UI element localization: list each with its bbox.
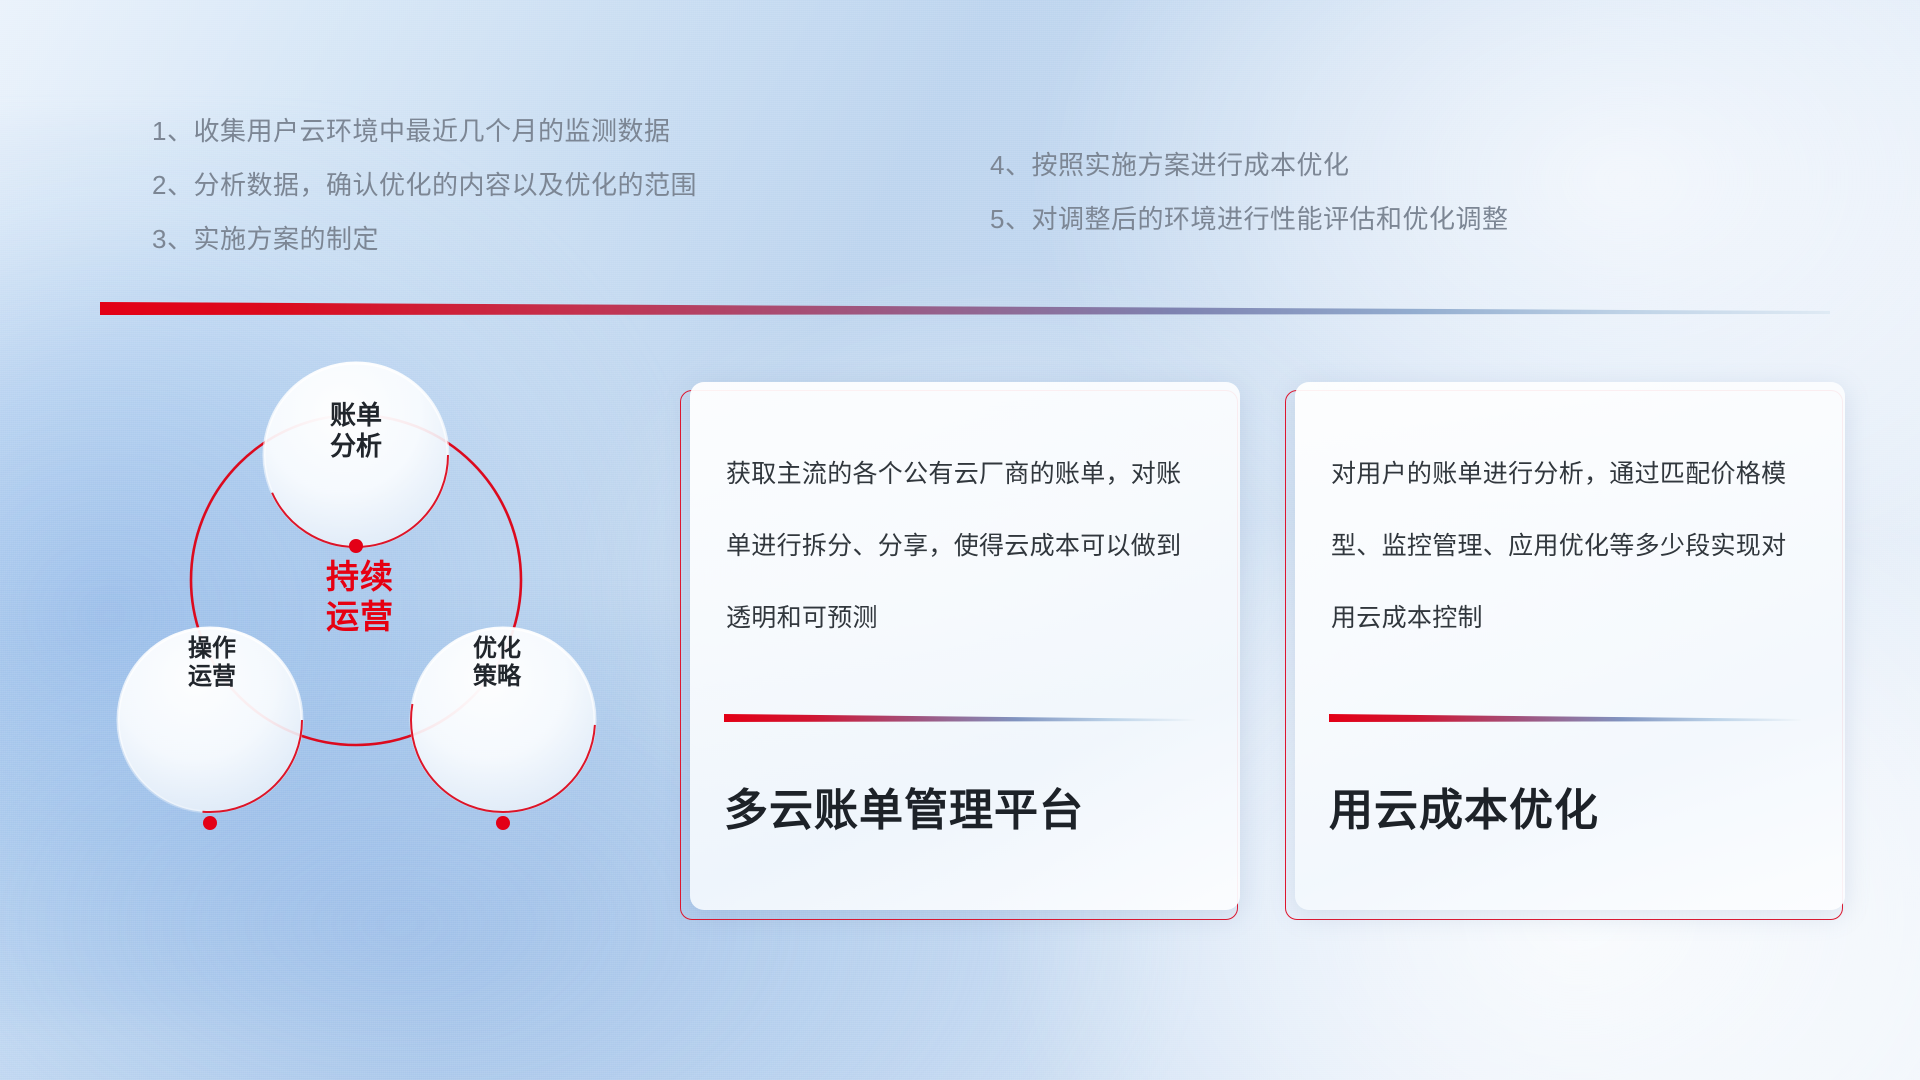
step-item: 5、对调整后的环境进行性能评估和优化调整 xyxy=(990,206,1508,232)
steps-list-left: 1、收集用户云环境中最近几个月的监测数据 2、分析数据，确认优化的内容以及优化的… xyxy=(152,118,697,252)
step-item: 1、收集用户云环境中最近几个月的监测数据 xyxy=(152,118,697,144)
venn-center-label: 持续 运营 xyxy=(285,557,435,638)
continuous-operation-diagram: 账单 分析 操作 运营 优化 策略 持续 运营 xyxy=(95,345,615,920)
card-title: 用云成本优化 xyxy=(1329,774,1809,838)
card-title: 多云账单管理平台 xyxy=(724,774,1204,838)
bubble-label-strategy: 优化 策略 xyxy=(422,635,572,692)
steps-list-right: 4、按照实施方案进行成本优化 5、对调整后的环境进行性能评估和优化调整 xyxy=(990,152,1508,232)
node-dot-top xyxy=(349,539,363,553)
section-divider xyxy=(100,300,1830,318)
card-multi-cloud-billing[interactable]: 获取主流的各个公有云厂商的账单，对账单进行拆分、分享，使得云成本可以做到透明和可… xyxy=(680,382,1240,922)
bubble-label-billing: 账单 分析 xyxy=(271,400,441,461)
node-dot-bottom-right xyxy=(496,816,510,830)
card-accent-rule xyxy=(1329,710,1801,719)
bubble-label-operations: 操作 运营 xyxy=(137,635,287,692)
step-item: 2、分析数据，确认优化的内容以及优化的范围 xyxy=(152,172,697,198)
card-cloud-cost-optimization[interactable]: 对用户的账单进行分析，通过匹配价格模型、监控管理、应用优化等多少段实现对用云成本… xyxy=(1285,382,1845,922)
section-divider-shape xyxy=(100,300,1830,318)
card-accent-rule xyxy=(724,710,1196,719)
card-accent-rule-shape xyxy=(724,714,1196,723)
card-description: 对用户的账单进行分析，通过匹配价格模型、监控管理、应用优化等多少段实现对用云成本… xyxy=(1331,438,1801,654)
card-accent-rule-shape xyxy=(1329,714,1801,723)
step-item: 4、按照实施方案进行成本优化 xyxy=(990,152,1508,178)
node-dot-bottom-left xyxy=(203,816,217,830)
card-description: 获取主流的各个公有云厂商的账单，对账单进行拆分、分享，使得云成本可以做到透明和可… xyxy=(726,438,1196,654)
step-item: 3、实施方案的制定 xyxy=(152,226,697,252)
slide-canvas: 1、收集用户云环境中最近几个月的监测数据 2、分析数据，确认优化的内容以及优化的… xyxy=(0,0,1920,1080)
